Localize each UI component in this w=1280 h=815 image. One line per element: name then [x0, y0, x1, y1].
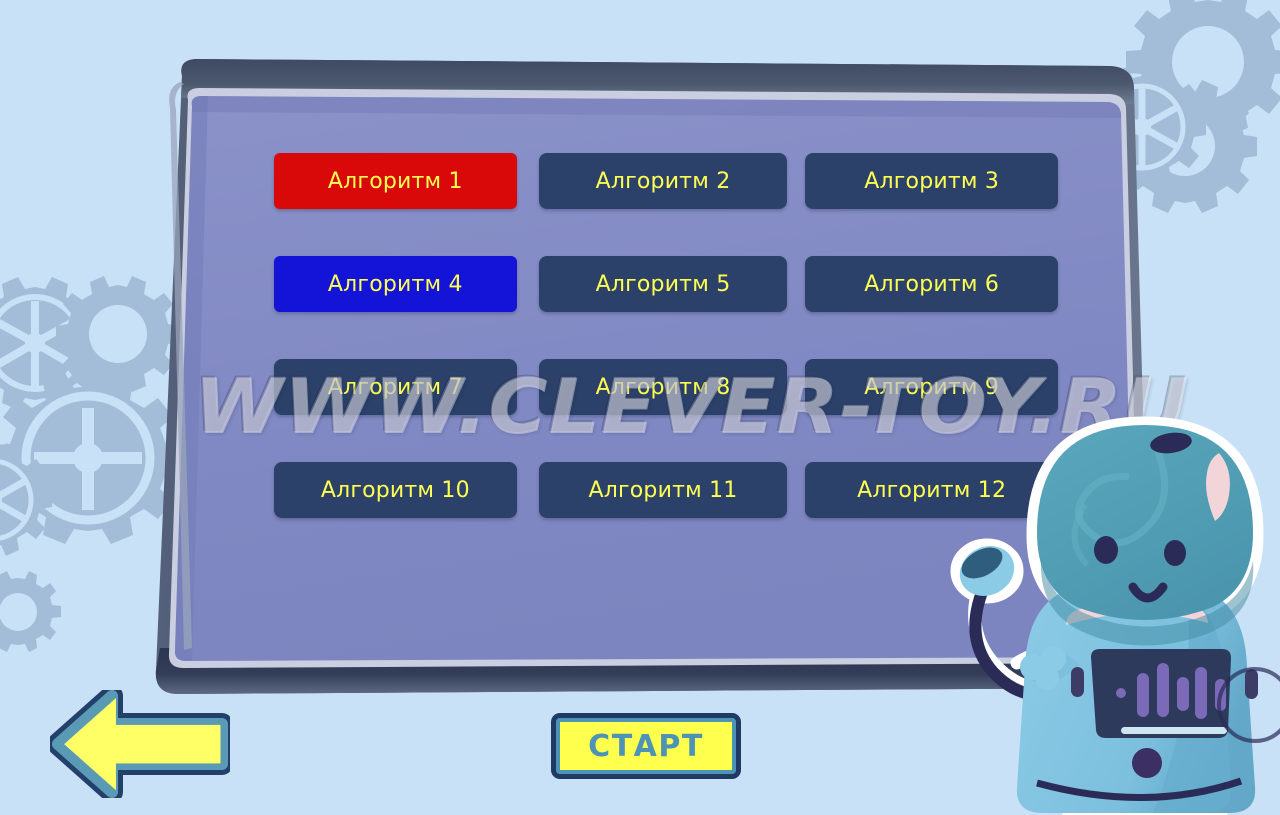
algorithm-button-7[interactable]: Алгоритм 7	[274, 359, 517, 415]
algorithm-button-2[interactable]: Алгоритм 2	[539, 153, 788, 209]
tablet-screen: WWW.CLEVER-TOY.RU Алгоритм 1Алгоритм 2Ал…	[186, 93, 1114, 673]
algorithm-button-8[interactable]: Алгоритм 8	[539, 359, 788, 415]
algorithm-button-3[interactable]: Алгоритм 3	[805, 153, 1058, 209]
gear-icon	[0, 571, 61, 652]
algorithm-button-1[interactable]: Алгоритм 1	[274, 153, 517, 209]
algorithm-button-12[interactable]: Алгоритм 12	[805, 462, 1058, 518]
algorithm-button-6[interactable]: Алгоритм 6	[805, 256, 1058, 312]
algorithm-button-11[interactable]: Алгоритм 11	[539, 462, 788, 518]
back-arrow-button[interactable]	[50, 690, 230, 798]
algorithm-button-5[interactable]: Алгоритм 5	[539, 256, 788, 312]
back-arrow-layers[interactable]	[58, 696, 222, 792]
algorithm-button-grid: Алгоритм 1Алгоритм 2Алгоритм 3Алгоритм 4…	[268, 153, 1058, 518]
algorithm-button-9[interactable]: Алгоритм 9	[805, 359, 1058, 415]
tablet-device: WWW.CLEVER-TOY.RU Алгоритм 1Алгоритм 2Ал…	[148, 48, 1158, 708]
start-button-label: СТАРТ	[588, 729, 704, 764]
algorithm-button-10[interactable]: Алгоритм 10	[274, 462, 517, 518]
algorithm-button-4[interactable]: Алгоритм 4	[274, 256, 517, 312]
start-button[interactable]: СТАРТ	[556, 718, 736, 774]
